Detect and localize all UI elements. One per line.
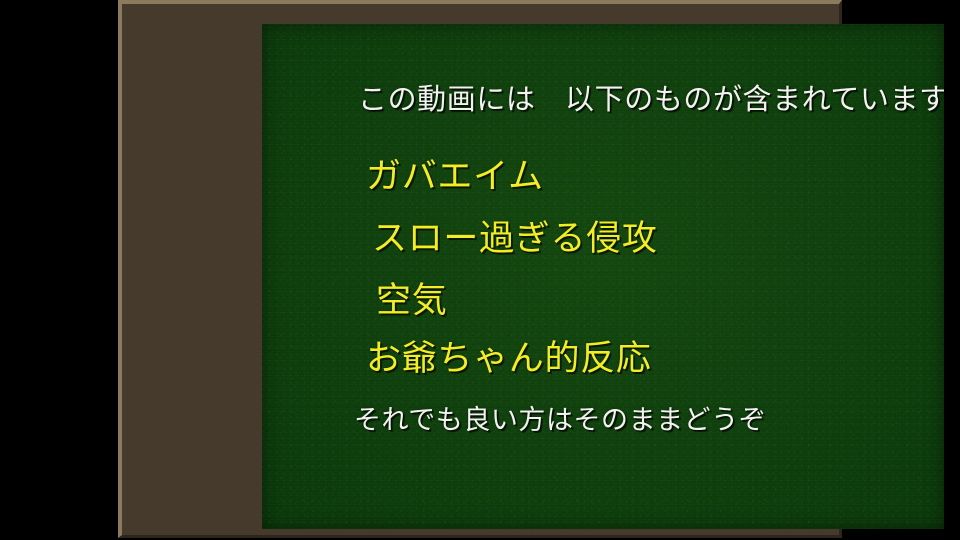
- headline-text: この動画には 以下のものが含まれています: [358, 76, 944, 118]
- list-item: スロー過ぎる侵攻: [372, 210, 658, 261]
- chalkboard-wooden-frame: この動画には 以下のものが含まれています ガバエイム スロー過ぎる侵攻 空気 お…: [118, 0, 842, 538]
- list-item: 空気: [376, 272, 447, 323]
- video-frame: この動画には 以下のものが含まれています ガバエイム スロー過ぎる侵攻 空気 お…: [0, 0, 960, 540]
- footnote-text: それでも良い方はそのままどうぞ: [354, 398, 766, 437]
- list-item: お爺ちゃん的反応: [366, 330, 652, 381]
- chalkboard-surface: この動画には 以下のものが含まれています ガバエイム スロー過ぎる侵攻 空気 お…: [262, 24, 944, 529]
- list-item: ガバエイム: [366, 148, 544, 199]
